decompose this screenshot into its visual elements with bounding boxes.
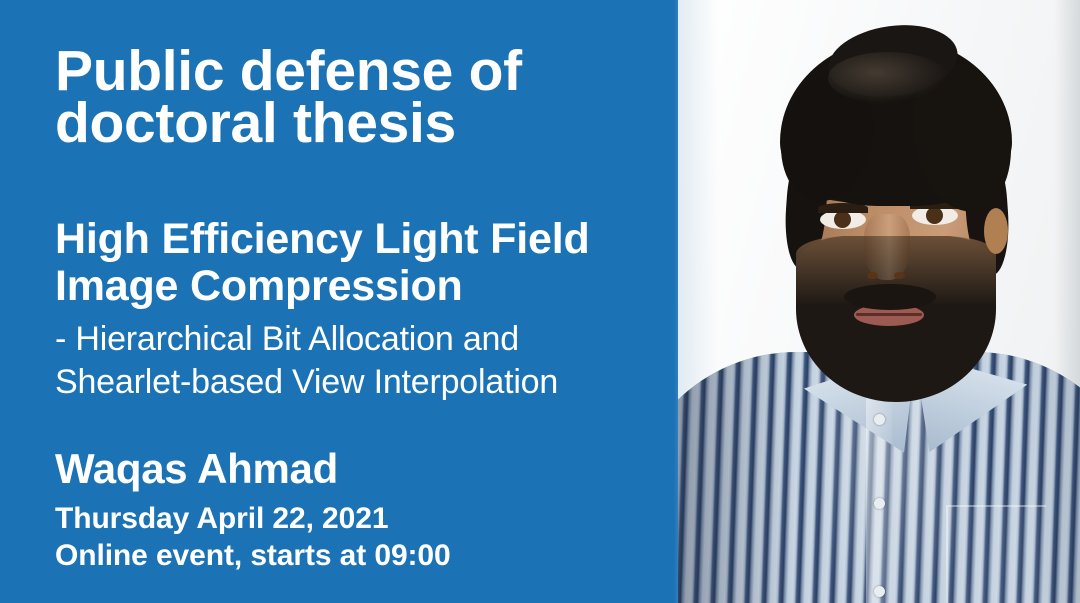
shirt-button (874, 586, 885, 597)
mustache (844, 284, 936, 310)
shirt-button (874, 414, 885, 425)
lip-line (856, 313, 922, 316)
speaker-portrait-photo (678, 0, 1080, 603)
shirt-pocket (946, 505, 1046, 603)
shirt-button (874, 498, 885, 509)
thesis-title: High Efficiency Light Field Image Compre… (55, 216, 675, 310)
defense-announcement-poster: Public defense of doctoral thesis High E… (0, 0, 1080, 603)
event-date: Thursday April 22, 2021 (55, 502, 388, 536)
shirt-shadow-left (678, 352, 796, 603)
nostril-right (894, 272, 905, 279)
nostril-left (867, 272, 878, 279)
iris-right (926, 207, 943, 224)
event-mode-and-time: Online event, starts at 09:00 (55, 539, 451, 573)
hair-highlight (828, 52, 948, 104)
ear-right (984, 208, 1008, 254)
nose (864, 214, 910, 280)
speaker-name: Waqas Ahmad (55, 445, 338, 493)
thesis-subtitle: - Hierarchical Bit Allocation and Shearl… (55, 318, 675, 404)
iris-left (834, 211, 851, 228)
page-title: Public defense of doctoral thesis (55, 45, 665, 149)
